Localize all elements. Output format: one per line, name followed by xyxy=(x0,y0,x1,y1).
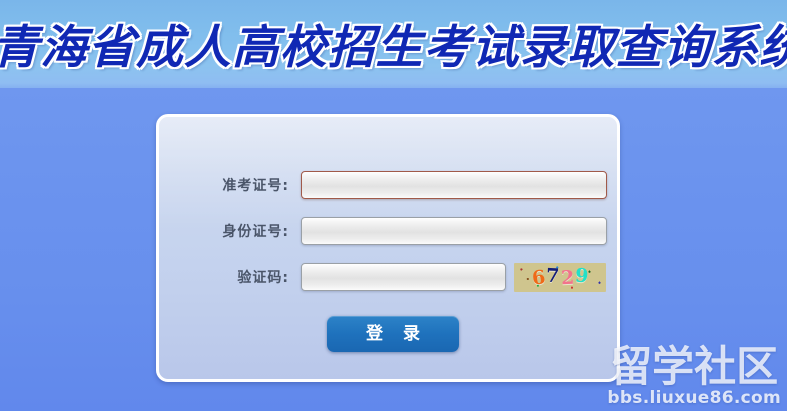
ticket-number-label: 准考证号: xyxy=(185,175,301,195)
ticket-number-input[interactable] xyxy=(301,171,607,199)
form-row-ticket: 准考证号: xyxy=(159,162,617,208)
login-button[interactable]: 登 录 xyxy=(327,316,459,352)
submit-row: 登 录 xyxy=(159,316,617,352)
captcha-char-4: 9 xyxy=(574,266,589,286)
id-card-number-input[interactable] xyxy=(301,217,607,245)
login-panel: 准考证号: 身份证号: 验证码: 6 7 2 9 登 录 xyxy=(156,114,620,382)
page-title: 青海省成人高校招生考试录取查询系统 xyxy=(0,14,787,80)
captcha-label: 验证码: xyxy=(185,267,301,287)
page-root: 青海省成人高校招生考试录取查询系统 准考证号: 身份证号: 验证码: 6 7 2 xyxy=(0,0,787,411)
captcha-char-2: 7 xyxy=(546,266,560,286)
form-row-idcard: 身份证号: xyxy=(159,208,617,254)
form-row-captcha: 验证码: 6 7 2 9 xyxy=(159,254,617,300)
captcha-input[interactable] xyxy=(301,263,506,291)
captcha-char-1: 6 xyxy=(531,268,546,288)
id-card-number-label: 身份证号: xyxy=(185,221,301,241)
captcha-char-3: 2 xyxy=(560,268,574,288)
login-form: 准考证号: 身份证号: 验证码: 6 7 2 9 登 录 xyxy=(159,117,617,352)
captcha-image[interactable]: 6 7 2 9 xyxy=(514,263,606,292)
